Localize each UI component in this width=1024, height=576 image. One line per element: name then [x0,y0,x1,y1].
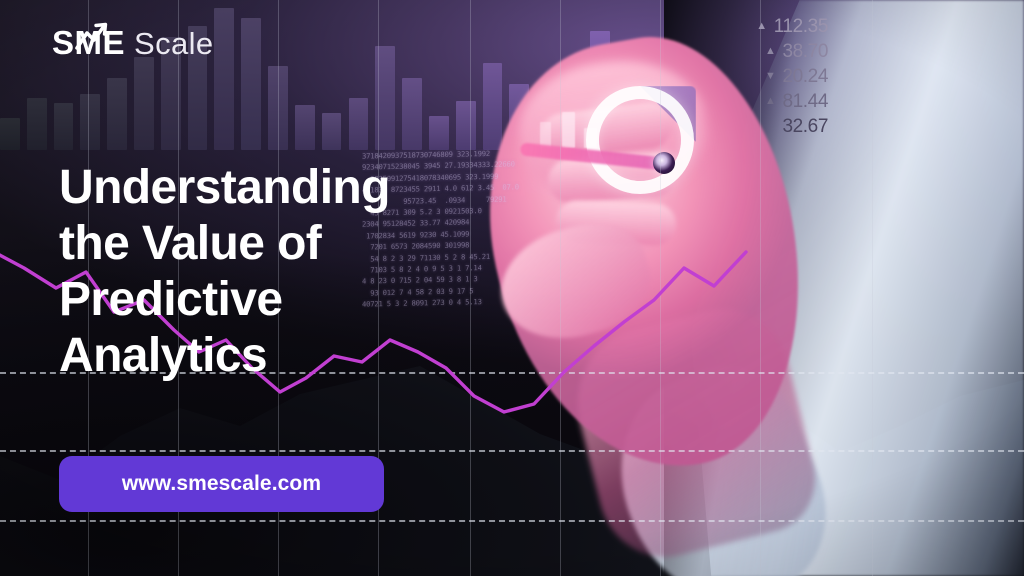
headline-line-2: the Value of [59,216,529,272]
ticker-row: ▲81.44 [716,89,828,114]
triangle-down-icon: ▼ [765,71,776,82]
triangle-up-icon: ▲ [765,46,776,57]
ticker-value: 20.24 [782,66,828,88]
triangle-up-icon: ▲ [756,21,767,32]
ticker-row: ▲38.70 [716,39,828,64]
headline-line-1: Understanding [59,160,529,216]
ticker-value: 112.35 [774,16,828,38]
website-url-button[interactable]: www.smescale.com [59,456,384,512]
ticker-value: 81.44 [782,91,828,113]
ticker-row: 32.67 [716,114,828,139]
hero-banner: 3718420937518730746809 323.1992 92340715… [0,0,1024,576]
headline-line-4: Analytics [59,328,529,384]
market-ticker: ▲112.35▲38.70▼20.24▲81.4432.67 [716,14,828,139]
ticker-value: 38.70 [782,41,828,63]
ticker-row: ▼20.24 [716,64,828,89]
ticker-value: 32.67 [782,116,828,138]
upward-trend-arrow-icon [74,21,110,51]
logo-secondary-label: Scale [134,28,214,59]
ticker-row: ▲112.35 [716,14,828,39]
brand-logo[interactable]: SME Scale [52,26,214,59]
triangle-up-icon: ▲ [765,96,776,107]
logo-sme-text: SME [52,26,125,59]
headline-line-3: Predictive [59,272,529,328]
page-title: Understanding the Value of Predictive An… [59,160,529,384]
website-url-label: www.smescale.com [122,472,321,496]
